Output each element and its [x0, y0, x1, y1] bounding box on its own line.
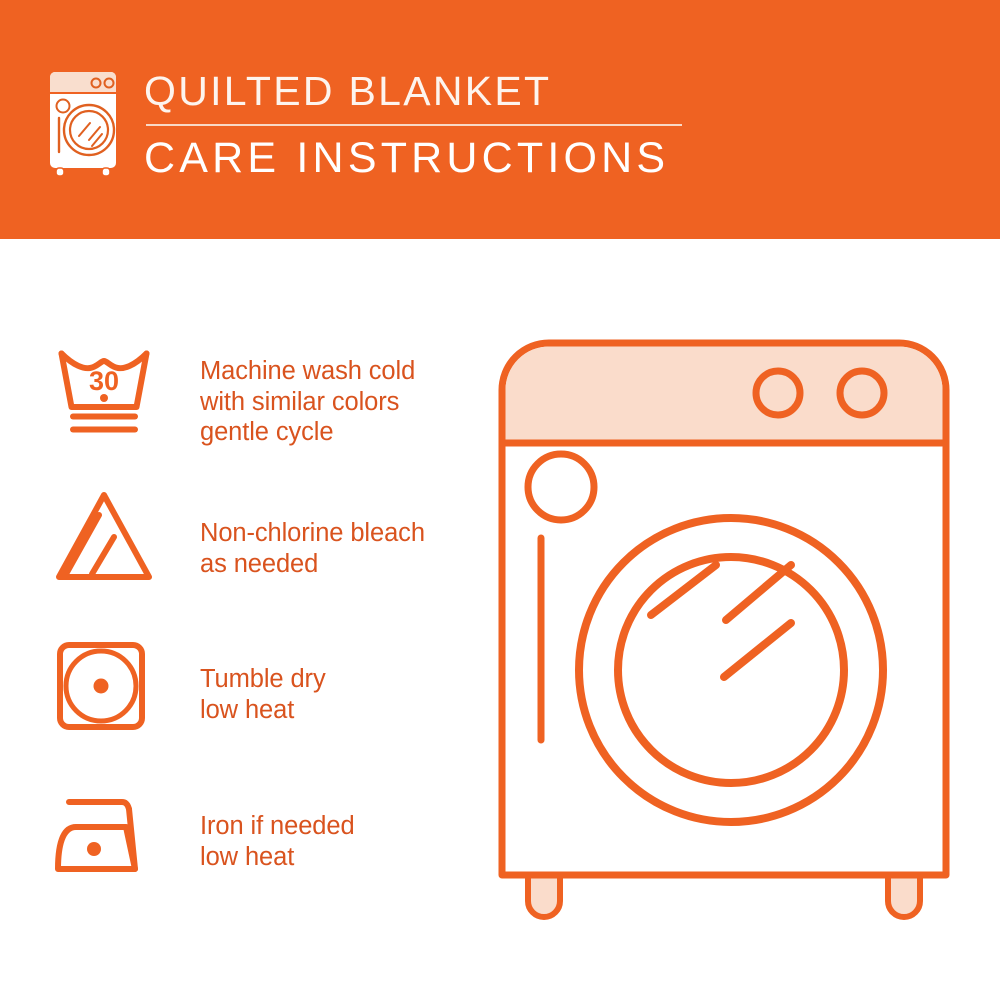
wash-temperature-label: 30: [89, 366, 119, 396]
care-instruction-item: Tumble dry low heat: [52, 639, 482, 735]
care-instruction-text: Non-chlorine bleach as needed: [200, 489, 425, 579]
header-title-block: QUILTED BLANKET CARE INSTRUCTIONS: [144, 66, 744, 184]
care-instruction-text: Tumble dry low heat: [200, 639, 326, 725]
tumble-dry-low-heat-icon: [52, 639, 156, 735]
title-divider: [146, 124, 682, 126]
wash-tub-30-gentle-icon: 30: [52, 344, 156, 440]
front-load-washing-machine-illustration: [484, 325, 972, 935]
care-instruction-item: 30 Machine wash cold with similar colors…: [52, 344, 482, 448]
page-title-primary: QUILTED BLANKET: [144, 66, 744, 116]
washing-machine-icon: [44, 68, 122, 178]
care-instruction-text: Iron if needed low heat: [200, 789, 355, 872]
care-instruction-item: Iron if needed low heat: [52, 789, 482, 885]
page-title-secondary: CARE INSTRUCTIONS: [144, 132, 744, 184]
care-instruction-item: Non-chlorine bleach as needed: [52, 489, 482, 585]
non-chlorine-bleach-triangle-icon: [52, 489, 156, 585]
control-panel: [506, 347, 943, 444]
care-instruction-list: 30 Machine wash cold with similar colors…: [0, 239, 500, 1000]
page-header: QUILTED BLANKET CARE INSTRUCTIONS: [0, 0, 1000, 239]
care-instruction-text: Machine wash cold with similar colors ge…: [200, 344, 415, 448]
iron-low-heat-icon: [52, 789, 156, 885]
